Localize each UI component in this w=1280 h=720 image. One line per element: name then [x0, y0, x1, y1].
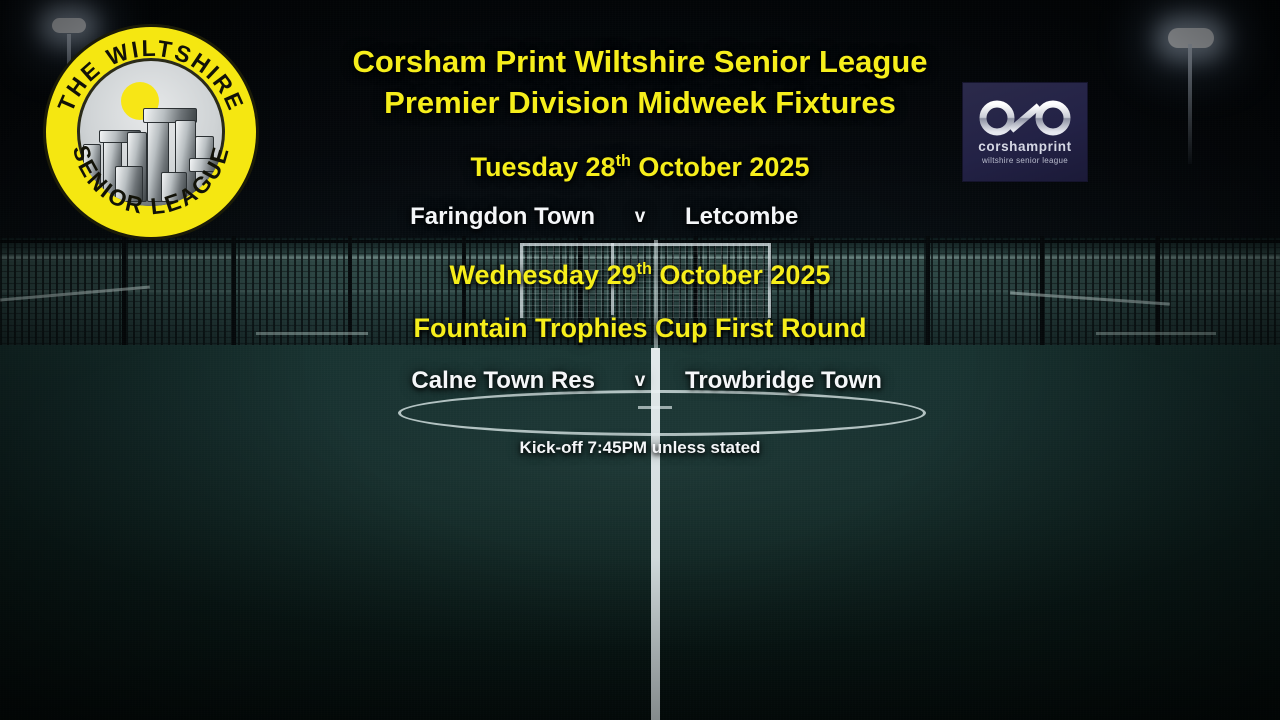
header-title-line2: Premier Division Midweek Fixtures — [0, 85, 1280, 121]
section-2-date-prefix: Wednesday 29 — [450, 260, 637, 290]
fixtures-graphic: THE WILTSHIRE SENIOR LEAGUE corshamprint… — [0, 0, 1280, 720]
table-row: Faringdon Town v Letcombe — [0, 203, 1280, 231]
section-2-date-suffix: th — [637, 260, 652, 278]
fixture-separator: v — [595, 370, 685, 392]
fixture-away-team: Trowbridge Town — [685, 367, 1025, 395]
fixture-away-team: Letcombe — [685, 203, 1025, 231]
fixture-separator: v — [595, 206, 685, 228]
fixture-home-team: Faringdon Town — [255, 203, 595, 231]
header-title-line1: Corsham Print Wiltshire Senior League — [0, 44, 1280, 80]
section-2-date: Wednesday 29th October 2025 — [0, 260, 1280, 291]
section-2-date-rest: October 2025 — [652, 260, 831, 290]
section-1-date: Tuesday 28th October 2025 — [0, 152, 1280, 183]
fixtures-text-content: Corsham Print Wiltshire Senior League Pr… — [0, 0, 1280, 720]
section-1-date-suffix: th — [616, 152, 631, 170]
table-row: Calne Town Res v Trowbridge Town — [0, 367, 1280, 395]
section-2-competition-label: Fountain Trophies Cup First Round — [0, 313, 1280, 344]
fixture-home-team: Calne Town Res — [255, 367, 595, 395]
section-1-date-rest: October 2025 — [631, 152, 810, 182]
kickoff-note: Kick-off 7:45PM unless stated — [0, 438, 1280, 458]
section-1-date-prefix: Tuesday 28 — [471, 152, 616, 182]
